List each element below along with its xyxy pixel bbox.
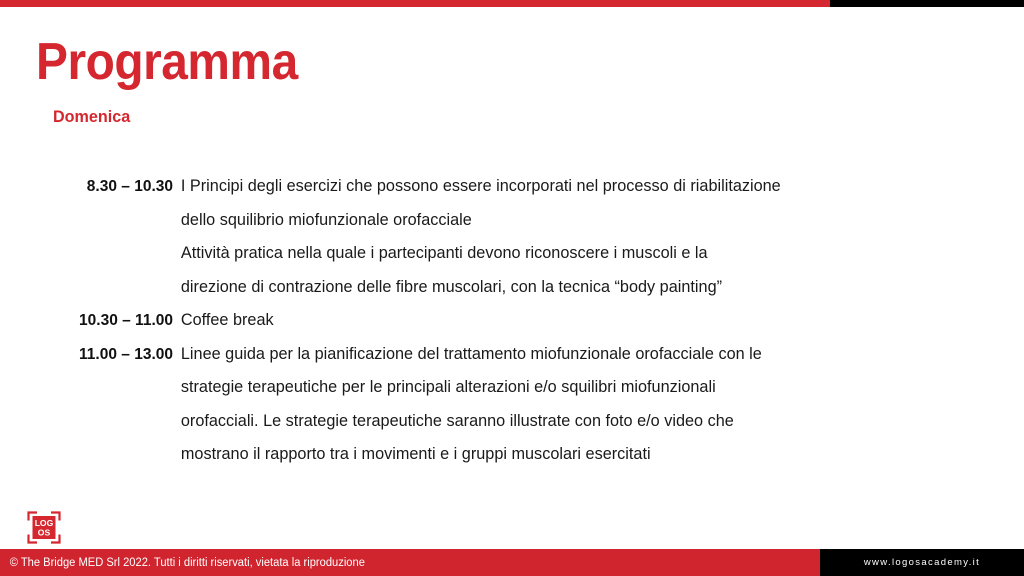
page-subtitle: Domenica (53, 105, 130, 129)
top-accent-bar-red-segment (0, 0, 830, 7)
logos-logo-icon: LOG OS (27, 511, 61, 544)
logo-text-line2: OS (38, 528, 51, 538)
agenda-description-line: strategie terapeutiche per le principali… (181, 371, 971, 405)
agenda-description-line: dello squilibrio miofunzionale orofaccia… (181, 204, 971, 238)
agenda-description-line: Linee guida per la pianificazione del tr… (181, 338, 971, 372)
agenda-description-line: orofacciali. Le strategie terapeutiche s… (181, 405, 971, 439)
agenda-description-line: I Principi degli esercizi che possono es… (181, 170, 971, 204)
agenda-time: 10.30 – 11.00 (53, 304, 173, 338)
footer-copyright-text: © The Bridge MED Srl 2022. Tutti i dirit… (0, 557, 365, 569)
top-accent-bar (0, 0, 1024, 7)
agenda-row: 11.00 – 13.00 Linee guida per la pianifi… (53, 338, 983, 472)
agenda-description-line: Attività pratica nella quale i partecipa… (181, 237, 971, 271)
agenda-description: Linee guida per la pianificazione del tr… (173, 338, 971, 472)
agenda-description: Coffee break (173, 304, 971, 338)
footer-website-section: www.logosacademy.it (820, 549, 1024, 576)
agenda-description-line: direzione di contrazione delle fibre mus… (181, 271, 971, 305)
agenda-time: 8.30 – 10.30 (53, 170, 173, 204)
agenda-description-line: mostrano il rapporto tra i movimenti e i… (181, 438, 971, 472)
footer-copyright-section: © The Bridge MED Srl 2022. Tutti i dirit… (0, 549, 820, 576)
page-title: Programma (36, 32, 298, 92)
agenda-row: 8.30 – 10.30 I Principi degli esercizi c… (53, 170, 983, 304)
agenda-row: 10.30 – 11.00 Coffee break (53, 304, 983, 338)
footer-website-text[interactable]: www.logosacademy.it (864, 557, 980, 568)
top-accent-bar-black-segment (830, 0, 1024, 7)
footer-bar: © The Bridge MED Srl 2022. Tutti i dirit… (0, 549, 1024, 576)
agenda-description-line: Coffee break (181, 304, 971, 338)
agenda-description: I Principi degli esercizi che possono es… (173, 170, 971, 304)
agenda-time: 11.00 – 13.00 (53, 338, 173, 372)
agenda-list: 8.30 – 10.30 I Principi degli esercizi c… (53, 170, 983, 472)
